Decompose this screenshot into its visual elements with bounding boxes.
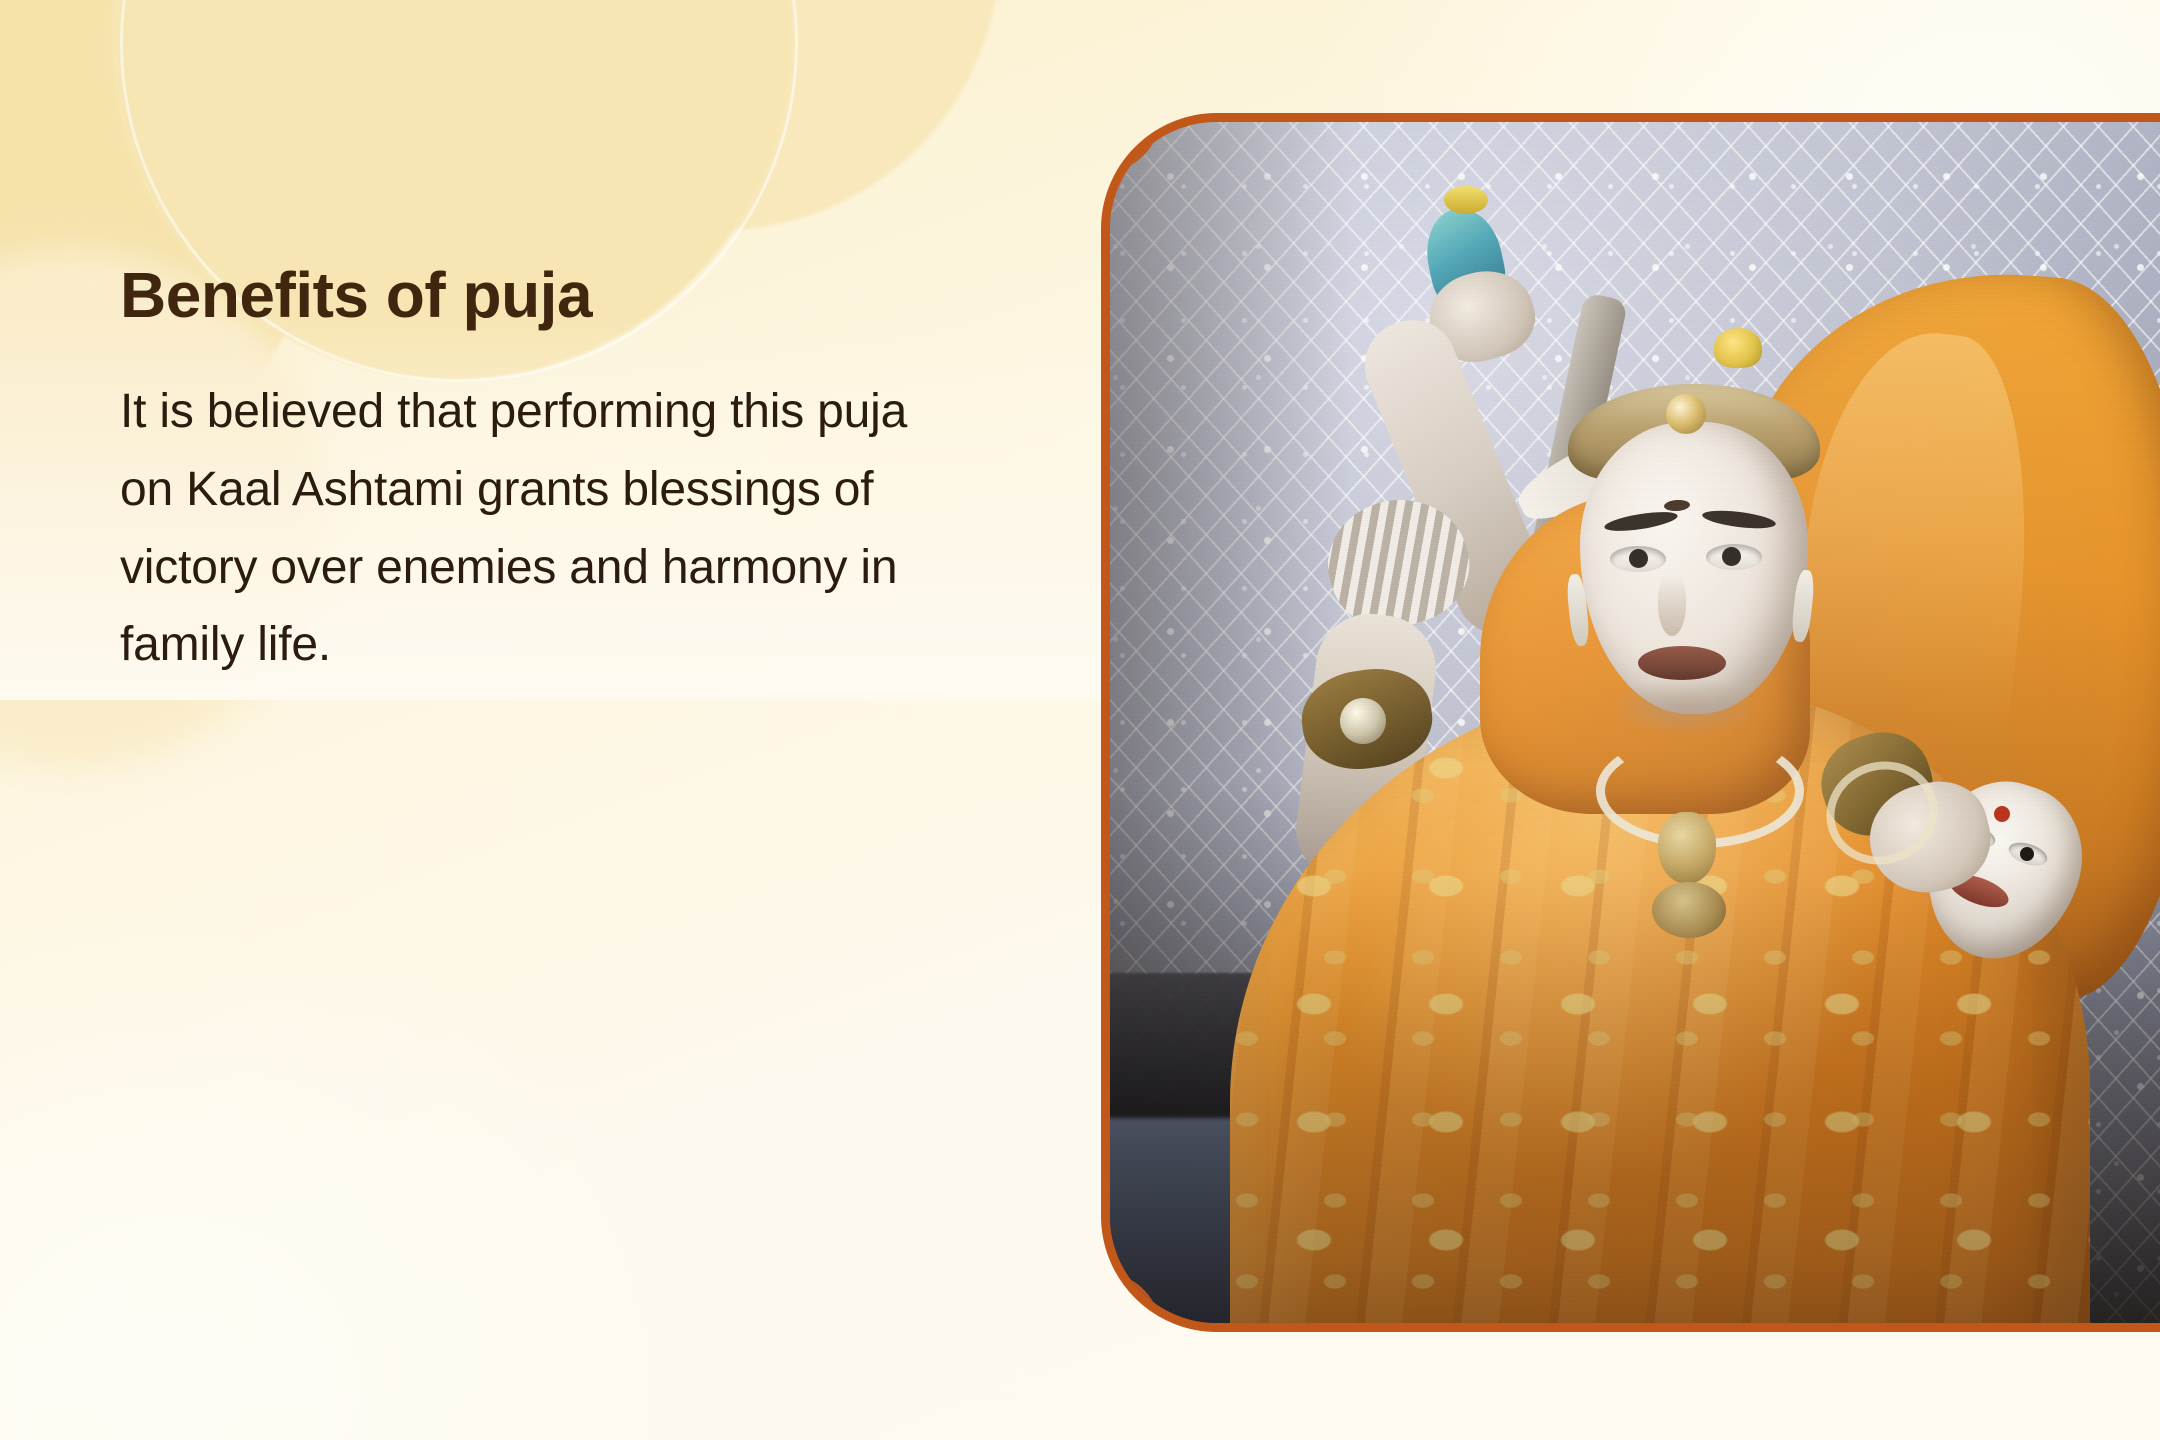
held-object-finial <box>1444 186 1488 214</box>
deity-pupil-right <box>1722 547 1741 566</box>
slide-canvas: Benefits of puja It is believed that per… <box>0 0 2160 1440</box>
deity-photo <box>1110 122 2160 1323</box>
second-figure-pupil-right <box>2020 847 2034 861</box>
deity-lips <box>1638 646 1726 680</box>
deity-photo-card <box>1101 113 2160 1332</box>
text-column: Benefits of puja It is believed that per… <box>120 262 950 684</box>
deity-nose <box>1658 574 1686 636</box>
deity-pendant <box>1658 812 1716 884</box>
second-figure-tilak <box>1994 806 2010 822</box>
deity-tiara-finial <box>1714 328 1762 368</box>
deity-crown-jewel <box>1666 394 1706 434</box>
deity-pupil-left <box>1629 549 1648 568</box>
body-paragraph: It is believed that performing this puja… <box>120 373 950 684</box>
deity-chin-shadow <box>1610 678 1760 736</box>
deity-pendant-lower <box>1652 882 1726 938</box>
armlet-gem <box>1340 698 1386 744</box>
page-title: Benefits of puja <box>120 262 950 329</box>
